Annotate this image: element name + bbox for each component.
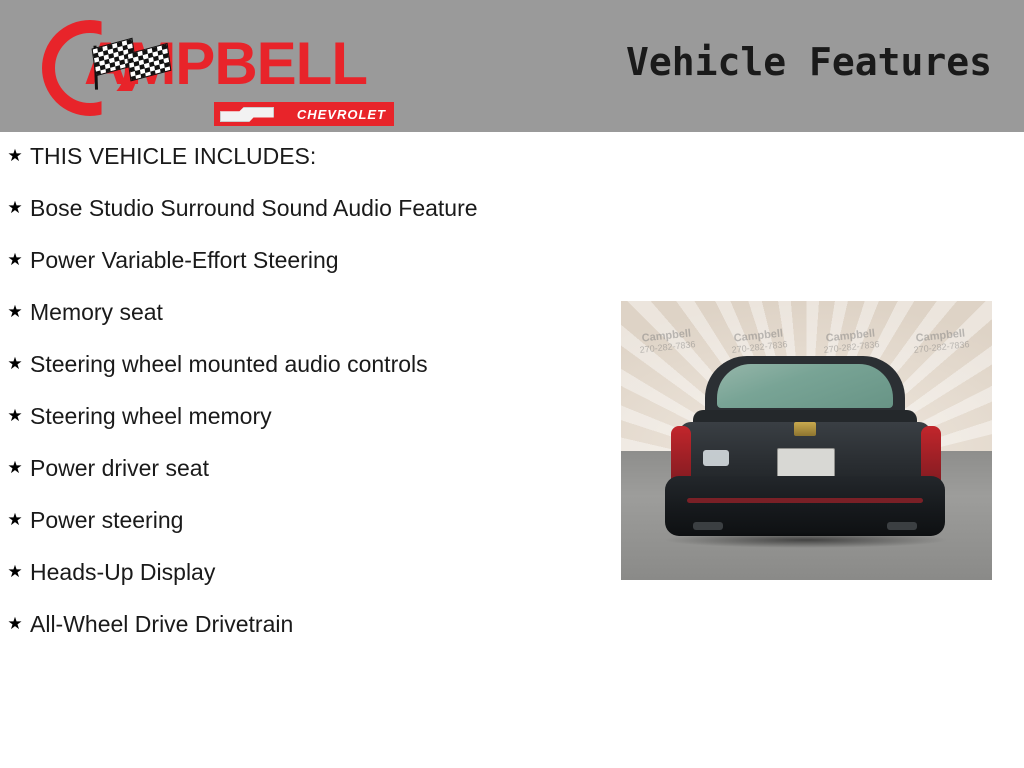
list-item: ★ Power Variable-Effort Steering (0, 244, 610, 277)
bowtie-shape (220, 107, 274, 122)
star-bullet-icon: ★ (0, 556, 30, 588)
list-item: ★ Bose Studio Surround Sound Audio Featu… (0, 192, 610, 225)
feature-label: Heads-Up Display (30, 556, 610, 589)
chevrolet-bowtie-icon (220, 107, 274, 122)
feature-label: Steering wheel memory (30, 400, 610, 433)
star-bullet-icon: ★ (0, 140, 30, 172)
list-item: ★ Steering wheel memory (0, 400, 610, 433)
chevrolet-bar: CHEVROLET (214, 102, 394, 126)
star-bullet-icon: ★ (0, 608, 30, 640)
slide-page: AMPBELL CHEVROLET Vehicle Features ★ THI… (0, 0, 1024, 768)
feature-label: Bose Studio Surround Sound Audio Feature (30, 192, 610, 225)
features-list: ★ THIS VEHICLE INCLUDES: ★ Bose Studio S… (0, 140, 610, 660)
car-exhaust-left (693, 522, 723, 530)
star-bullet-icon: ★ (0, 244, 30, 276)
vehicle-photo: Campbell 270-282-7836 Campbell 270-282-7… (621, 301, 992, 580)
car-license-plate (777, 448, 835, 478)
car-dealer-decal (703, 450, 729, 466)
list-item: ★ Power driver seat (0, 452, 610, 485)
car-illustration (653, 356, 958, 546)
feature-label: Power steering (30, 504, 610, 537)
dealer-logo[interactable]: AMPBELL CHEVROLET (36, 14, 386, 120)
car-exhaust-right (887, 522, 917, 530)
feature-label: All-Wheel Drive Drivetrain (30, 608, 610, 641)
list-item: ★ All-Wheel Drive Drivetrain (0, 608, 610, 641)
page-header: AMPBELL CHEVROLET Vehicle Features (0, 0, 1024, 132)
feature-label: Power Variable-Effort Steering (30, 244, 610, 277)
feature-label: Power driver seat (30, 452, 610, 485)
car-rear-window (717, 364, 893, 408)
list-item: ★ Steering wheel mounted audio controls (0, 348, 610, 381)
star-bullet-icon: ★ (0, 296, 30, 328)
star-bullet-icon: ★ (0, 192, 30, 224)
car-emblem-icon (794, 422, 816, 436)
list-item: ★ Memory seat (0, 296, 610, 329)
list-item: ★ Power steering (0, 504, 610, 537)
chevrolet-label: CHEVROLET (297, 107, 386, 122)
star-bullet-icon: ★ (0, 400, 30, 432)
car-shadow (663, 532, 949, 548)
star-bullet-icon: ★ (0, 348, 30, 380)
star-bullet-icon: ★ (0, 504, 30, 536)
feature-label: THIS VEHICLE INCLUDES: (30, 140, 610, 173)
feature-label: Steering wheel mounted audio controls (30, 348, 610, 381)
car-reflector-strip (687, 498, 923, 503)
list-item: ★ Heads-Up Display (0, 556, 610, 589)
feature-label: Memory seat (30, 296, 610, 329)
star-bullet-icon: ★ (0, 452, 30, 484)
list-item: ★ THIS VEHICLE INCLUDES: (0, 140, 610, 173)
page-title: Vehicle Features (626, 40, 992, 84)
